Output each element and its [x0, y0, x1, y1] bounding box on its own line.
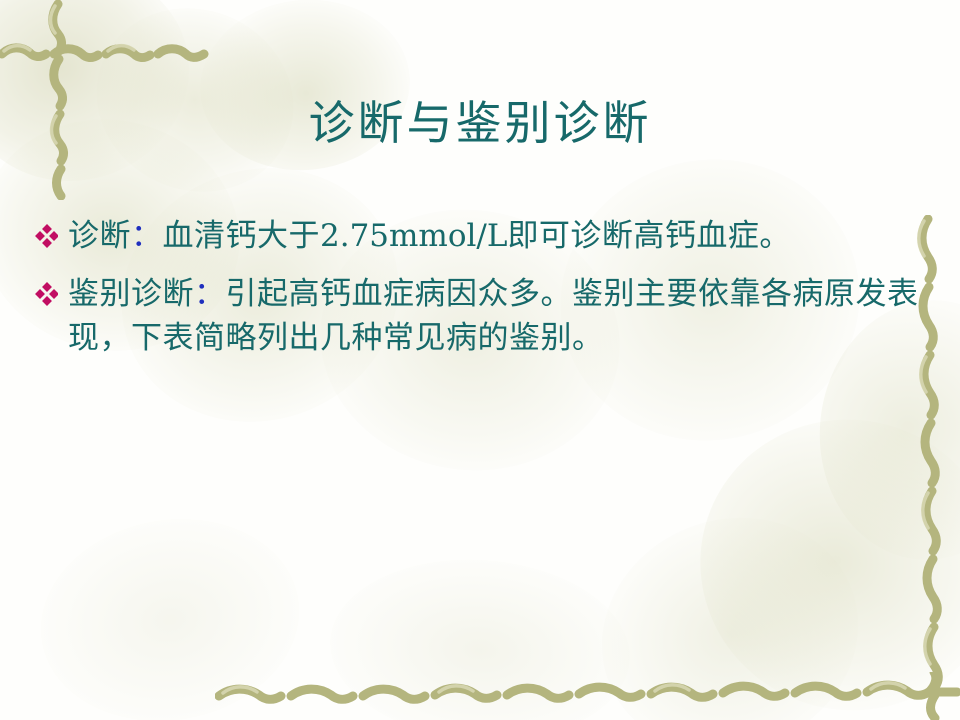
watermark-blob: [324, 550, 636, 720]
diamond-cluster-bullet-icon: [34, 214, 68, 252]
bullet-text-1: 诊断：血清钙大于2.75mmol/L即可诊断高钙血症。: [68, 214, 922, 258]
bullet-2-seg-0: 鉴别诊断: [68, 276, 194, 312]
bullet-2-colon: ：: [194, 276, 226, 312]
diamond-cluster-bullet-icon: [34, 272, 68, 310]
watermark-blob: [25, 499, 316, 720]
watermark-blob: [666, 384, 960, 720]
bullet-1-seg-4: 即可诊断高钙血症。: [507, 218, 791, 254]
watermark-blob: [566, 480, 893, 720]
watermark-blob: [192, 0, 419, 181]
bullet-1-value: 2.75mmol/L: [320, 218, 507, 254]
bullet-1-seg-0: 诊断: [68, 218, 131, 254]
bullet-1-colon: ：: [131, 218, 163, 254]
bottom-edge-ribbon-decoration: [215, 672, 960, 712]
top-left-ribbon-decoration: [0, 34, 210, 70]
bullet-text-2: 鉴别诊断：引起高钙血症病因众多。鉴别主要依靠各病原发表现，下表简略列出几种常见病…: [68, 272, 922, 360]
body-content: 诊断：血清钙大于2.75mmol/L即可诊断高钙血症。 鉴别诊断：引起高钙血症病…: [34, 214, 922, 374]
list-item: 诊断：血清钙大于2.75mmol/L即可诊断高钙血症。: [34, 214, 922, 258]
page-title: 诊断与鉴别诊断: [0, 98, 960, 150]
bullet-1-seg-2: 血清钙大于: [163, 218, 321, 254]
slide-canvas: 诊断与鉴别诊断 诊断：血清钙大于2.75mmol/L即可诊断高钙血症。: [0, 0, 960, 720]
list-item: 鉴别诊断：引起高钙血症病因众多。鉴别主要依靠各病原发表现，下表简略列出几种常见病…: [34, 272, 922, 360]
